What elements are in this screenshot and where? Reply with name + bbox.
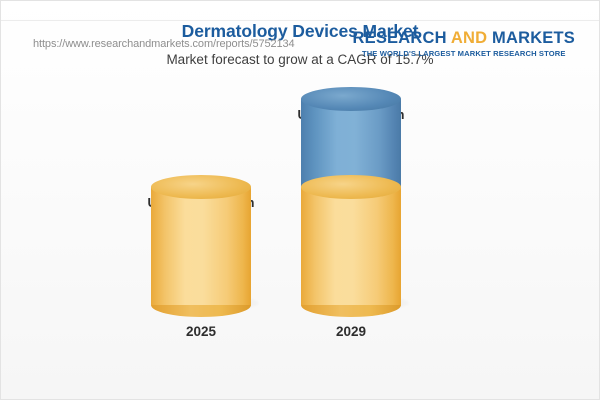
category-label-2029: 2029 — [271, 324, 431, 339]
logo-word-and: AND — [447, 29, 492, 47]
bar-segment-body — [301, 187, 401, 305]
bar-cylinder-2029 — [301, 99, 401, 305]
research-and-markets-logo[interactable]: RESEARCH AND MARKETS THE WORLD'S LARGEST… — [353, 29, 576, 58]
logo-word-markets: MARKETS — [492, 29, 575, 47]
bar-segment-body — [301, 99, 401, 187]
category-label-2025: 2025 — [121, 324, 281, 339]
bar-segment-base-2029 — [301, 187, 401, 305]
bar-segment-base-2025 — [151, 187, 251, 305]
chart-plot-area: USD 18.38 Billion 2025 USD 32.98 Billion — [1, 79, 600, 341]
market-infographic-card: Dermatology Devices Market Market foreca… — [0, 0, 600, 400]
bar-cylinder-2025 — [151, 187, 251, 305]
logo-word-research: RESEARCH — [353, 29, 447, 47]
bar-segment-top-cap — [301, 175, 401, 199]
logo-tagline: THE WORLD'S LARGEST MARKET RESEARCH STOR… — [353, 49, 576, 58]
logo-wordmark: RESEARCH AND MARKETS — [353, 29, 576, 48]
bar-segment-growth-2029 — [301, 99, 401, 187]
bar-segment-top-cap — [151, 175, 251, 199]
footer: https://www.researchandmarkets.com/repor… — [1, 20, 600, 68]
bar-segment-body — [151, 187, 251, 305]
report-url[interactable]: https://www.researchandmarkets.com/repor… — [33, 38, 295, 50]
bar-segment-top-cap — [301, 87, 401, 111]
